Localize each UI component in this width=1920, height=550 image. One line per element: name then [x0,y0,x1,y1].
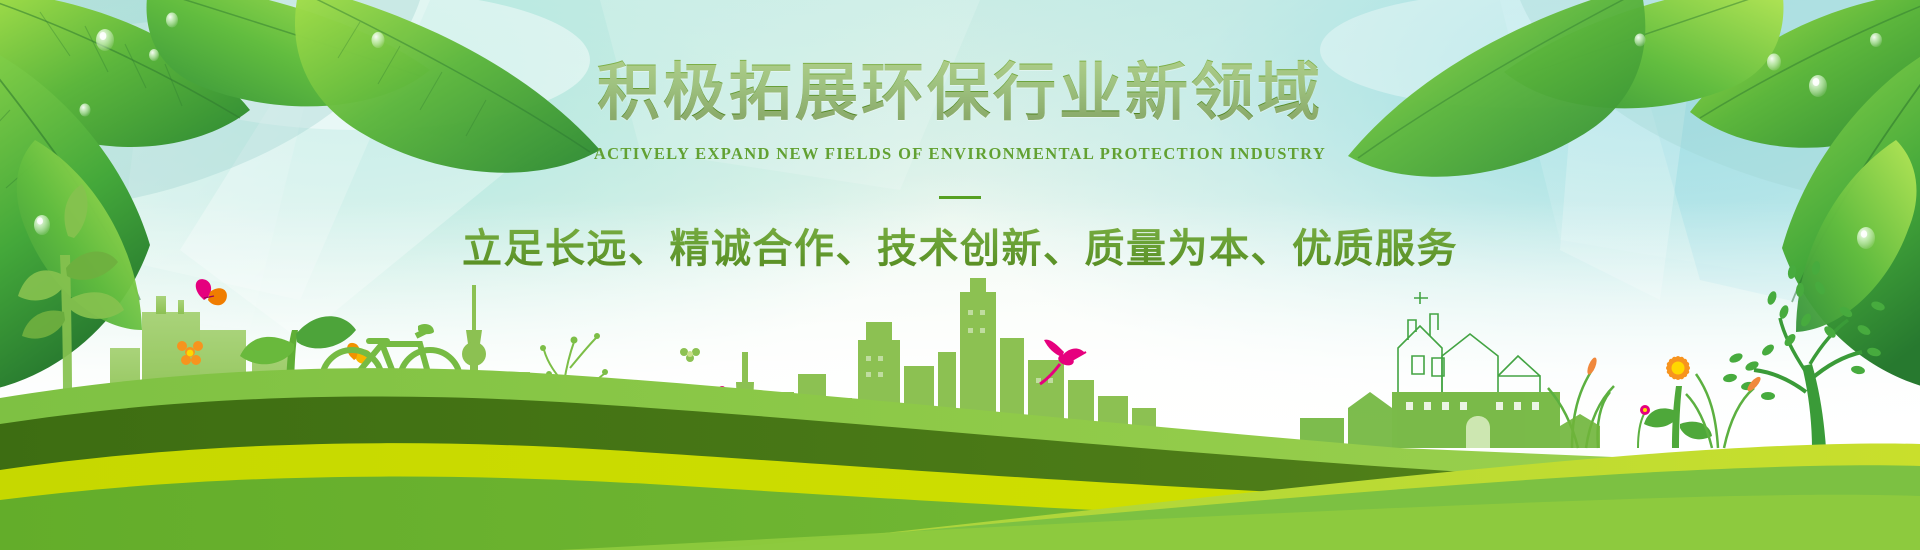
wave-bands [0,0,1920,550]
eco-banner: 积极拓展环保行业新领域 ACTIVELY EXPAND NEW FIELDS O… [0,0,1920,550]
